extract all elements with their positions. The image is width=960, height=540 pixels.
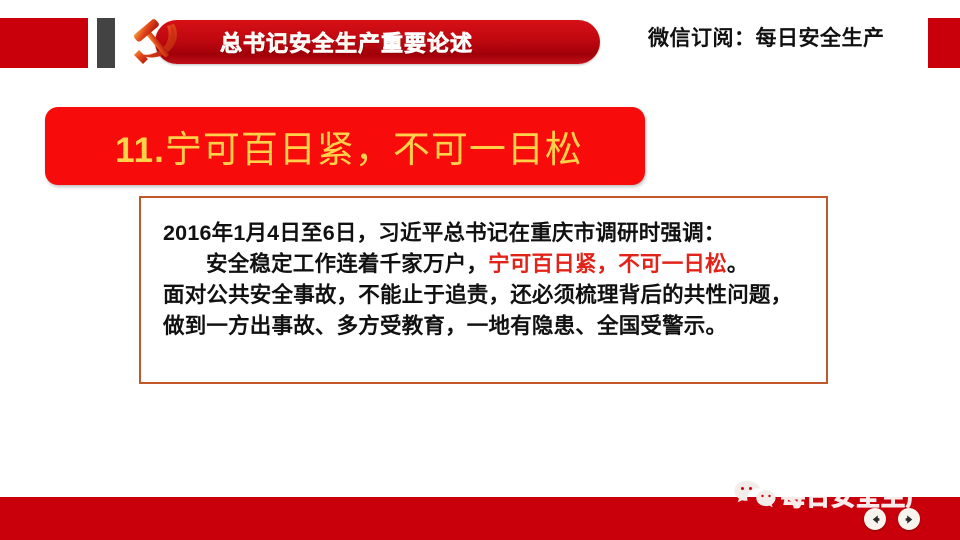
- section-title-banner: 11.宁可百日紧，不可一日松: [45, 107, 645, 185]
- header-wechat-subscribe-label: 微信订阅：每日安全生产: [648, 22, 885, 52]
- header-title-pill: 总书记安全生产重要论述: [155, 20, 600, 64]
- quote-line-2-suffix: 。: [727, 252, 749, 276]
- header-title-text: 总书记安全生产重要论述: [220, 26, 473, 58]
- quote-content-box: 2016年1月4日至6日，习近平总书记在重庆市调研时强调： 安全稳定工作连着千家…: [139, 196, 828, 384]
- header-red-block-left: [0, 18, 88, 68]
- watermark-text: 每日安全生产: [781, 477, 931, 512]
- header-red-block-right: [928, 18, 960, 68]
- slide-nav-controls[interactable]: [864, 508, 920, 530]
- section-title-text: 11.宁可百日紧，不可一日松: [107, 119, 583, 173]
- party-emblem-hammer-sickle-icon: [130, 18, 188, 68]
- arrow-right-icon: [904, 514, 915, 525]
- section-title-label: 宁可百日紧，不可一日松: [165, 130, 583, 171]
- wechat-logo-icon: [733, 479, 777, 509]
- slide-header: 总书记安全生产重要论述: [0, 0, 960, 78]
- arrow-left-icon: [870, 514, 881, 525]
- footer-watermark: 每日安全生产: [733, 476, 945, 512]
- quote-text-body: 2016年1月4日至6日，习近平总书记在重庆市调研时强调： 安全稳定工作连着千家…: [163, 218, 811, 342]
- slide-root: 总书记安全生产重要论述: [0, 0, 960, 540]
- header-gray-bar: [97, 18, 115, 68]
- quote-line-2: 安全稳定工作连着千家万户，宁可百日紧，不可一日松。: [163, 249, 811, 280]
- prev-slide-button[interactable]: [864, 508, 886, 530]
- quote-line-1: 2016年1月4日至6日，习近平总书记在重庆市调研时强调：: [163, 218, 811, 249]
- section-title-number: 11.: [115, 131, 165, 170]
- next-slide-button[interactable]: [898, 508, 920, 530]
- quote-line-2-prefix: 安全稳定工作连着千家万户，: [206, 252, 488, 276]
- quote-line-2-highlight: 宁可百日紧，不可一日松: [488, 252, 727, 276]
- quote-line-3: 面对公共安全事故，不能止于追责，还必须梳理背后的共性问题，做到一方出事故、多方受…: [163, 280, 811, 342]
